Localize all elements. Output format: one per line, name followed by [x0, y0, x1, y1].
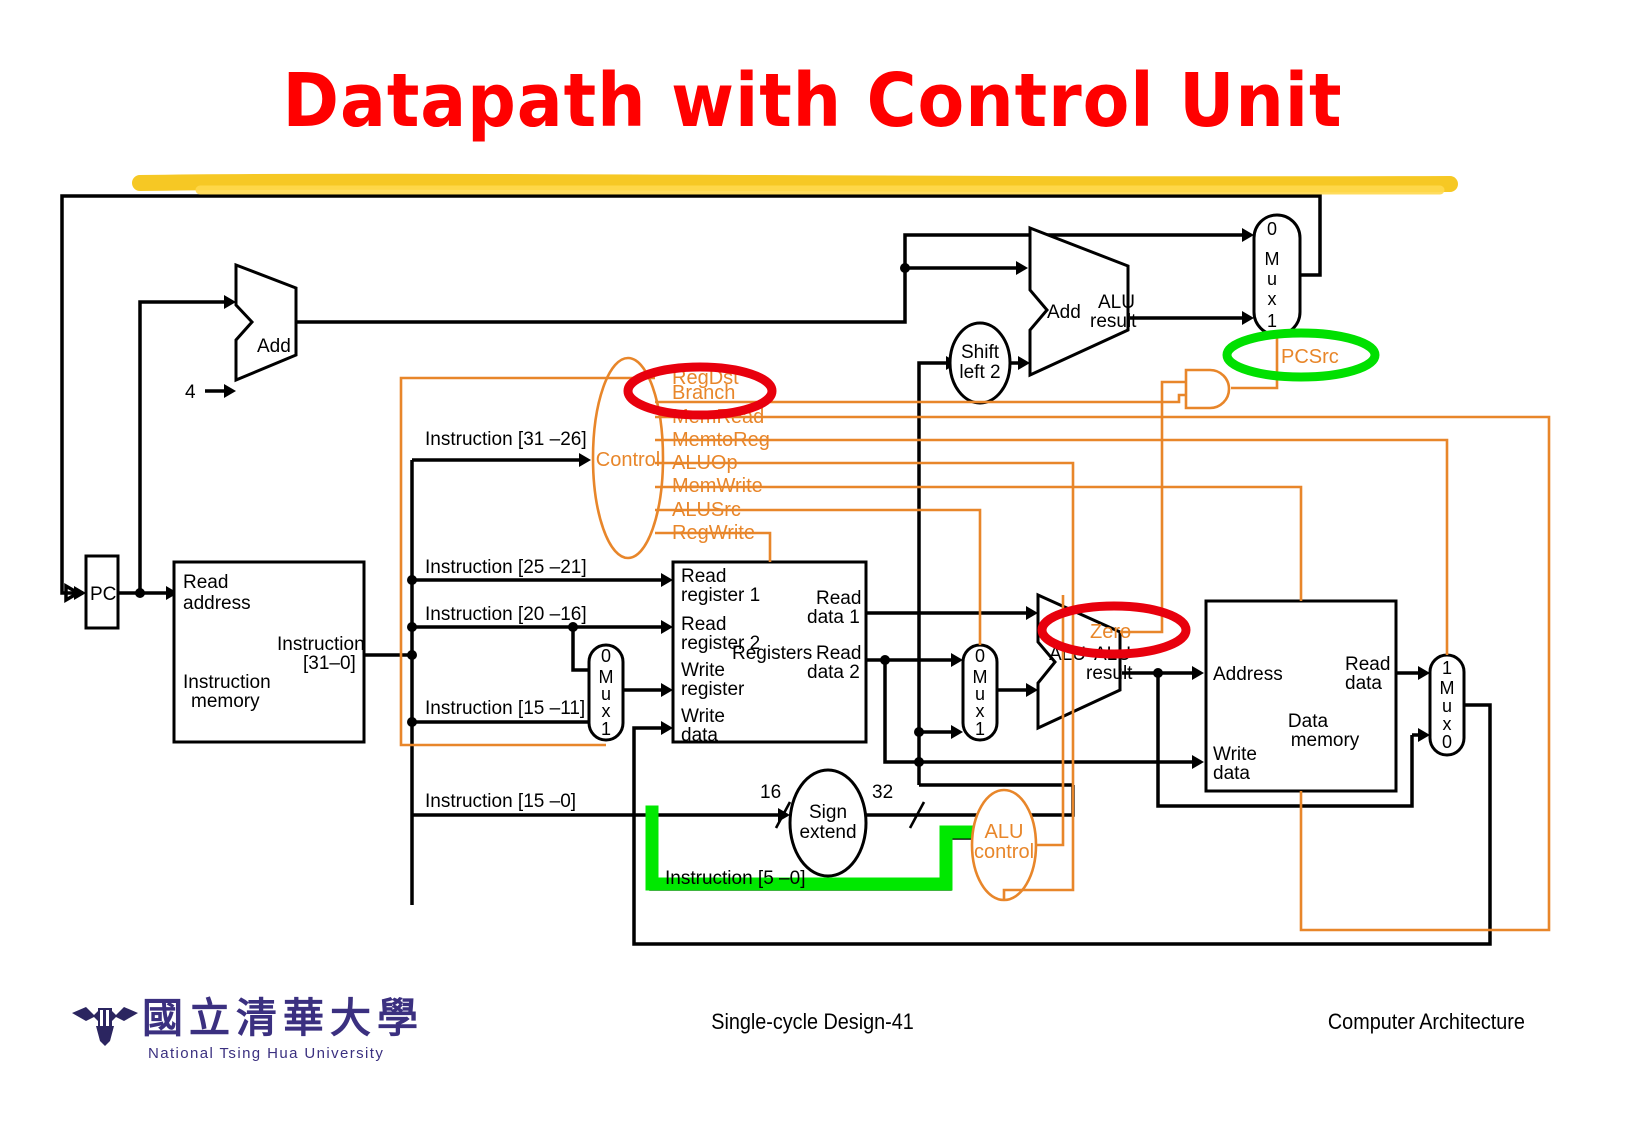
rf-read-data2-l1: Read: [816, 643, 861, 664]
university-name-en: National Tsing Hua University: [148, 1045, 490, 1062]
shift-left-2-line2: left 2: [959, 362, 1000, 383]
control-label: Control: [596, 449, 660, 471]
mux-pcsrc-x: x: [1268, 289, 1277, 309]
im-name-line2: memory: [191, 691, 260, 712]
add-pc4-label: Add: [257, 336, 291, 357]
sign-extend-line2: extend: [799, 822, 856, 843]
read-data-1-wire: [866, 606, 1038, 620]
alu-control-unit: ALU control: [972, 790, 1036, 900]
branch-result-line1: ALU: [1098, 292, 1135, 313]
mux-pcsrc-m: M: [1265, 249, 1280, 269]
bus-label-15-11: Instruction [15 –11]: [425, 698, 585, 719]
mux-memtoreg-bottom-label: 0: [1442, 732, 1452, 752]
read-data-2-wire: [866, 653, 1204, 769]
mux-regdst-top-label: 0: [601, 646, 611, 666]
register-file-block: Read register 1 Read register 2 Write re…: [673, 562, 866, 746]
mux-pcsrc-u: u: [1267, 269, 1277, 289]
im-out-line1: Instruction: [277, 634, 365, 655]
sign-extend-in-width: 16: [760, 782, 781, 803]
bus-label-15-0: Instruction [15 –0]: [425, 791, 576, 812]
add-branch-label: Add: [1047, 302, 1081, 323]
signal-aluop: ALUOp: [672, 452, 738, 474]
signal-branch: Branch: [672, 382, 735, 404]
yellow-highlight-stroke: [140, 182, 1450, 191]
slide-footer: 國立清華大學 National Tsing Hua University Sin…: [0, 995, 1625, 1105]
dm-name-l2: memory: [1291, 730, 1360, 751]
mux-pcsrc: 0 M u x 1: [1254, 215, 1300, 335]
rf-read-data1-l2: data 1: [807, 607, 860, 628]
mux-memtoreg-top-label: 1: [1442, 658, 1452, 678]
bus-label-20-16: Instruction [20 –16]: [425, 604, 587, 625]
rf-read-data1-l1: Read: [816, 588, 861, 609]
rf-read-data2-l2: data 2: [807, 662, 860, 683]
sign-extend-line1: Sign: [809, 802, 847, 823]
add-pc-plus-4-unit: Add 4: [185, 265, 296, 403]
branch-result-line2: result: [1090, 311, 1137, 332]
rf-name: Registers: [732, 643, 812, 664]
slide-root: Datapath with Control Unit: [0, 0, 1625, 1125]
im-read-address-line1: Read: [183, 572, 228, 593]
mux-memtoreg-x: x: [1443, 714, 1452, 734]
dm-read-data-l1: Read: [1345, 654, 1390, 675]
data-memory-block: Address Write data Read data Data memory: [1206, 601, 1396, 791]
page-label: Single-cycle Design-41: [81, 1009, 1544, 1035]
branch-target-wire: [1130, 311, 1254, 325]
mux-regdst: 0 M u x 1: [589, 645, 673, 740]
rf-write-reg-l2: register: [681, 679, 745, 700]
shift-left-2-line1: Shift: [961, 342, 1000, 363]
mux-alusrc-x: x: [976, 701, 985, 721]
rf-read-reg1-l1: Read: [681, 566, 726, 587]
alu-control-l1: ALU: [985, 821, 1024, 843]
data-memory-read-data-wire: [1396, 666, 1430, 680]
mux-alusrc: 0 M u x 1: [963, 645, 997, 740]
mux-pcsrc-top-label: 0: [1267, 219, 1277, 239]
rf-write-data-l1: Write: [681, 706, 725, 727]
svg-text:PC: PC: [90, 584, 116, 605]
mux-memtoreg: 1 M u x 0: [1430, 655, 1464, 755]
alu-control-l2: control: [974, 841, 1034, 863]
alu-src-mux-output-wire: [995, 683, 1038, 697]
dm-address-label: Address: [1213, 664, 1283, 685]
rf-write-data-l2: data: [681, 725, 718, 746]
mux-alusrc-bottom-label: 1: [975, 719, 985, 739]
bus-label-5-0: Instruction [5 –0]: [665, 868, 805, 889]
rf-write-reg-l1: Write: [681, 660, 725, 681]
add-branch-unit: Add ALU result: [1030, 228, 1137, 375]
bus-label-25-21: Instruction [25 –21]: [425, 557, 587, 578]
mux-regdst-x: x: [602, 701, 611, 721]
datapath-diagram: PC Read address Instruction memory Instr…: [0, 0, 1625, 1125]
const4-wire: [205, 384, 236, 398]
signal-alusrc: ALUSrc: [672, 499, 741, 521]
bus-label-31-26: Instruction [31 –26]: [425, 429, 587, 450]
im-out-line2: [31–0]: [303, 653, 356, 674]
instruction-memory-block: Read address Instruction memory Instruct…: [174, 562, 365, 742]
im-name-line1: Instruction: [183, 672, 271, 693]
course-name: Computer Architecture: [1328, 1009, 1525, 1035]
mux-alusrc-top-label: 0: [975, 646, 985, 666]
pc-output-wire: [118, 295, 236, 600]
signal-regwrite: RegWrite: [672, 522, 755, 544]
rf-read-reg2-l1: Read: [681, 614, 726, 635]
mux-memtoreg-m: M: [1440, 678, 1455, 698]
signal-memtoreg: MemtoReg: [672, 429, 770, 451]
pc-register: PC: [86, 556, 118, 628]
alu-result-l2: result: [1086, 663, 1133, 684]
im-read-address-line2: address: [183, 593, 251, 614]
mux-memtoreg-u: u: [1442, 696, 1452, 716]
shift-left-2-unit: Shift left 2: [950, 323, 1010, 403]
signal-pcsrc: PCSrc: [1281, 346, 1339, 368]
dm-write-data-l1: Write: [1213, 744, 1257, 765]
and-gate: [1186, 370, 1229, 408]
dm-read-data-l2: data: [1345, 673, 1382, 694]
dm-name-l1: Data: [1288, 711, 1329, 732]
sign-extend-out-width: 32: [872, 782, 893, 803]
mux-regdst-bottom-label: 1: [601, 719, 611, 739]
const-4-label: 4: [185, 382, 196, 403]
mux-pcsrc-bottom-label: 1: [1267, 311, 1277, 331]
dm-write-data-l2: data: [1213, 763, 1250, 784]
rf-read-reg1-l2: register 1: [681, 585, 760, 606]
signal-memwrite: MemWrite: [672, 475, 763, 497]
